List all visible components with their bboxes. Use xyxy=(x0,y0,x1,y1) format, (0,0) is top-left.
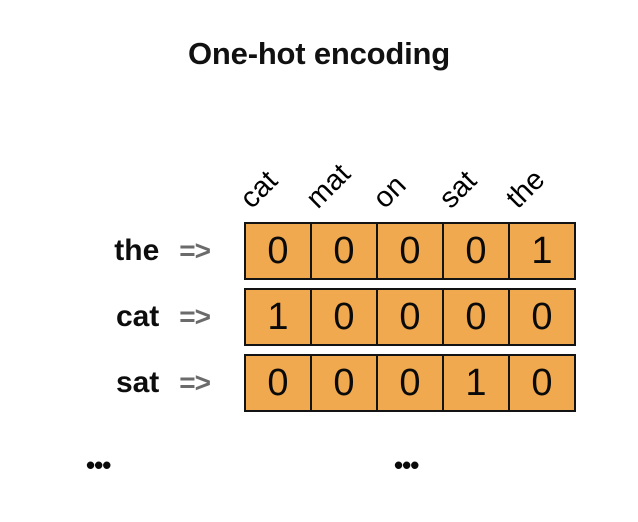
matrix-cell: 0 xyxy=(246,356,312,410)
matrix-cell: 0 xyxy=(312,224,378,278)
matrix-cell: 0 xyxy=(378,290,444,344)
one-hot-encoding-figure: One-hot encoding cat mat on sat the the … xyxy=(0,0,638,522)
ellipsis-rows: ••• xyxy=(86,452,110,478)
column-header-row: cat mat on sat the xyxy=(244,120,576,216)
page-title: One-hot encoding xyxy=(0,36,638,72)
matrix-cell: 0 xyxy=(378,224,444,278)
row-label-sat: sat => xyxy=(0,354,236,412)
maps-to-arrow: => xyxy=(179,369,210,397)
matrix-cell: 0 xyxy=(246,224,312,278)
row-word: sat xyxy=(116,368,159,398)
matrix-cell: 0 xyxy=(444,290,510,344)
column-header-label: mat xyxy=(301,159,356,214)
matrix-cell: 1 xyxy=(246,290,312,344)
ellipsis-matrix: ••• xyxy=(394,452,418,478)
matrix-cell: 0 xyxy=(312,290,378,344)
column-header-label: cat xyxy=(235,166,283,214)
matrix-cell: 0 xyxy=(510,290,574,344)
row-word: cat xyxy=(116,302,159,332)
matrix-row: 1 0 0 0 0 xyxy=(244,288,576,346)
maps-to-arrow: => xyxy=(179,303,210,331)
matrix-cell: 1 xyxy=(510,224,574,278)
row-word: the xyxy=(114,236,159,266)
matrix-cell: 0 xyxy=(378,356,444,410)
row-label-cat: cat => xyxy=(0,288,236,346)
row-label-the: the => xyxy=(0,222,236,280)
matrix-cell: 0 xyxy=(444,224,510,278)
column-header-mat: mat xyxy=(310,120,376,216)
column-header-cat: cat xyxy=(244,120,310,216)
matrix-row: 0 0 0 0 1 xyxy=(244,222,576,280)
maps-to-arrow: => xyxy=(179,237,210,265)
matrix-cell: 0 xyxy=(312,356,378,410)
matrix-row: 0 0 0 1 0 xyxy=(244,354,576,412)
matrix-cell: 1 xyxy=(444,356,510,410)
column-header-the: the xyxy=(510,120,576,216)
one-hot-matrix: 0 0 0 0 1 1 0 0 0 0 0 0 0 1 0 xyxy=(244,222,576,412)
column-header-on: on xyxy=(377,120,443,216)
column-header-sat: sat xyxy=(443,120,509,216)
matrix-cell: 0 xyxy=(510,356,574,410)
